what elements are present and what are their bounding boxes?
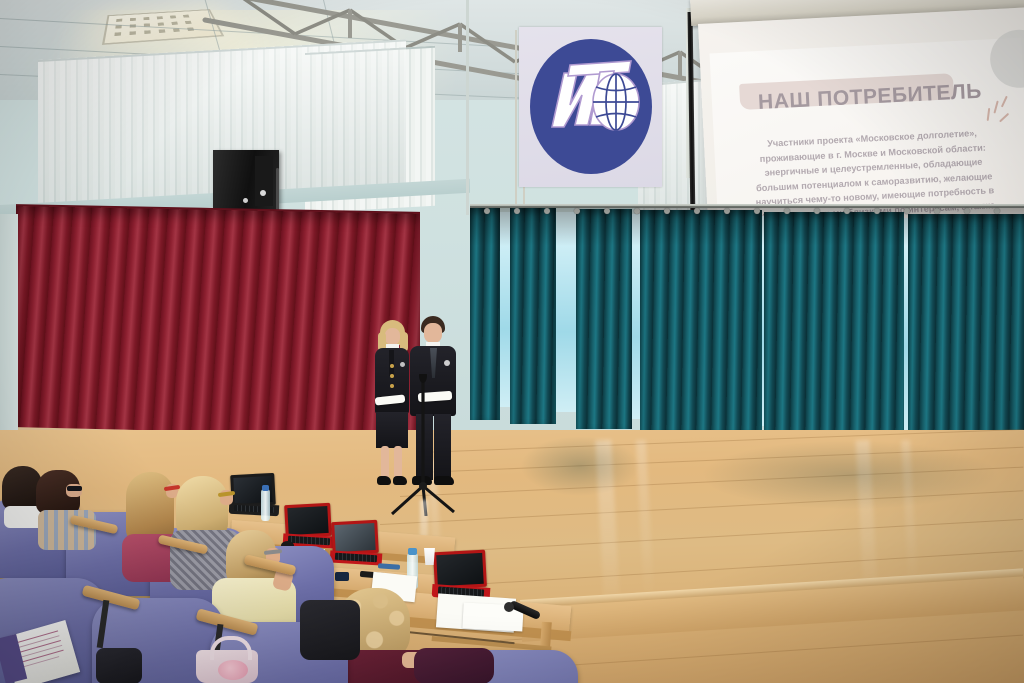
attendee-lap [414, 648, 494, 683]
bottle-cap [408, 548, 417, 555]
curtain-reflection [700, 440, 1000, 510]
teal-curtain-panel [908, 214, 1024, 450]
hair [176, 476, 228, 538]
tie [389, 350, 394, 376]
hanging-wire [515, 30, 517, 205]
glasses-icon [67, 486, 82, 491]
lapel-badge [400, 362, 405, 367]
curtain-reflection [520, 436, 640, 496]
attendee-dark-clothing [96, 648, 142, 683]
small-device [335, 572, 349, 581]
button [390, 364, 394, 368]
conference-hall-photo: НАШ ПОТРЕБИТЕЛЬ Участники проекта «Моско… [0, 0, 1024, 683]
wall-left-margin [0, 214, 18, 454]
attendee-dark-clothing [300, 600, 360, 660]
ito-logo-icon [530, 39, 652, 174]
face [424, 323, 442, 343]
ito-logo-banner [519, 27, 662, 187]
plaid-shirt [38, 510, 96, 550]
attendee-glasses-plaid [36, 470, 96, 540]
pa-speaker [213, 150, 279, 212]
curtain-top-shadow [470, 206, 1024, 246]
water-bottle-1 [261, 489, 270, 521]
handbag-ornament [218, 660, 248, 680]
laptop-red-2 [330, 521, 382, 567]
teal-curtain-panel [764, 212, 904, 442]
red-stage-curtain [16, 206, 420, 454]
lapel-badge [444, 360, 450, 366]
bottle-cap [262, 485, 269, 491]
face [385, 328, 400, 345]
microphone-head [504, 602, 514, 612]
handbag [196, 650, 258, 683]
handbag-handle [210, 636, 252, 660]
tripod-microphone-stand [388, 374, 458, 516]
wall-conduit [466, 0, 469, 215]
